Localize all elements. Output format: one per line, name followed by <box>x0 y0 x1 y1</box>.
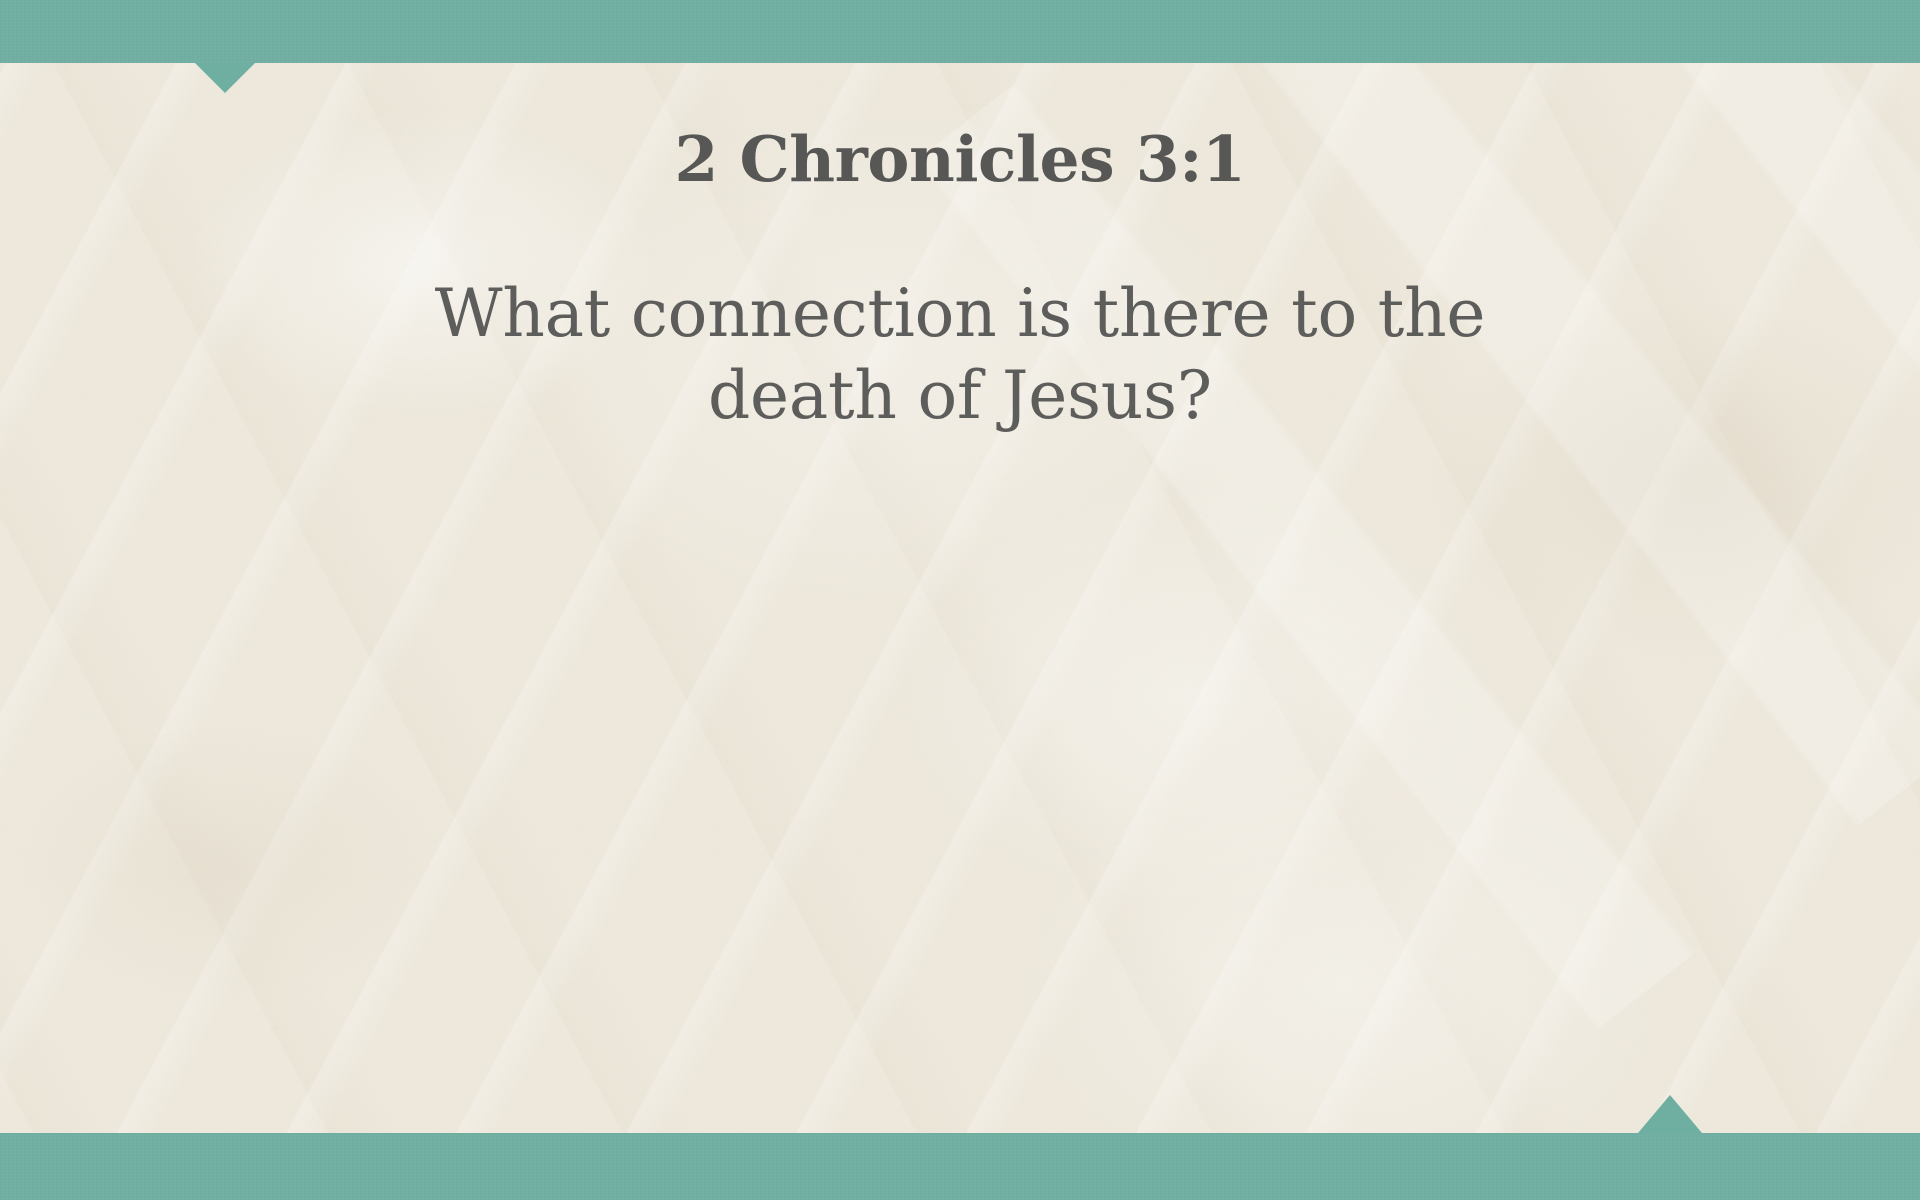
top-accent-bar <box>0 0 1920 63</box>
bottom-bar-texture <box>0 1133 1920 1200</box>
slide-content: 2 Chronicles 3:1 What connection is ther… <box>0 63 1920 1133</box>
top-bar-texture <box>0 0 1920 63</box>
slide-body-line-2: death of Jesus? <box>435 355 1486 437</box>
bottom-accent-bar <box>0 1133 1920 1200</box>
slide-body-text: What connection is there to the death of… <box>435 273 1486 437</box>
presentation-slide: 2 Chronicles 3:1 What connection is ther… <box>0 0 1920 1200</box>
slide-title: 2 Chronicles 3:1 <box>675 125 1246 193</box>
slide-body-line-1: What connection is there to the <box>435 273 1486 355</box>
